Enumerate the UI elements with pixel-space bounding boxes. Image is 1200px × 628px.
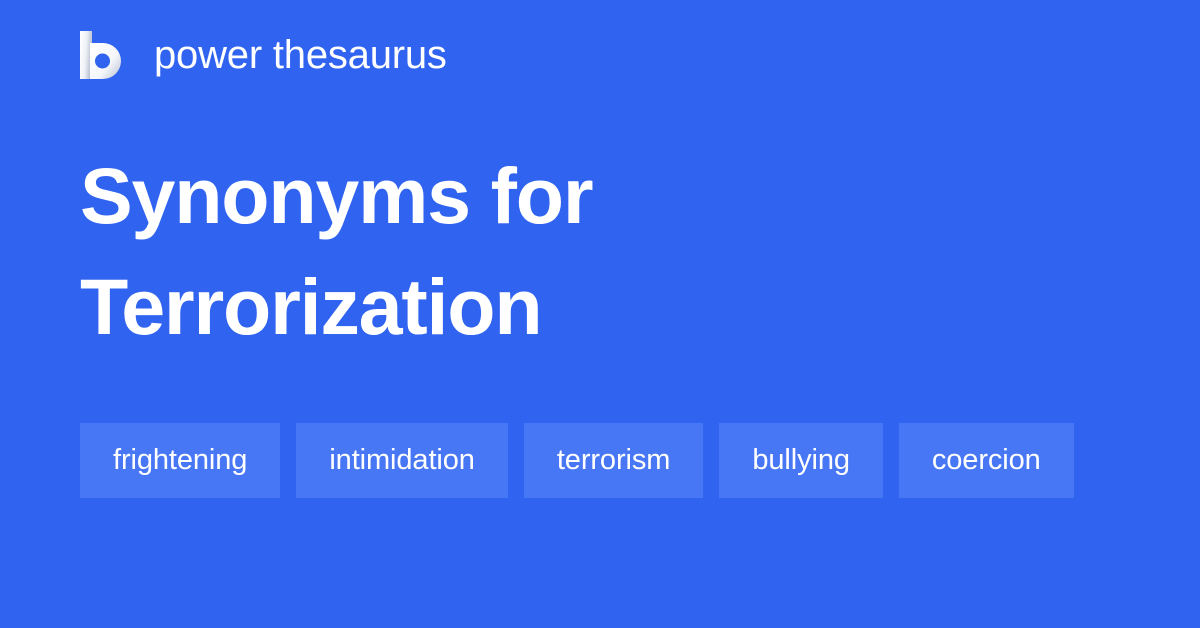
synonym-chip[interactable]: frightening (80, 423, 280, 498)
synonym-chip[interactable]: bullying (719, 423, 883, 498)
page-title-line-1: Synonyms for (80, 140, 1120, 251)
synonym-chip[interactable]: terrorism (524, 423, 704, 498)
share-card: power thesaurus Synonyms for Terrorizati… (0, 0, 1200, 628)
synonym-chip[interactable]: coercion (899, 423, 1074, 498)
brand-header[interactable]: power thesaurus (80, 30, 447, 80)
page-title-line-2: Terrorization (80, 251, 1120, 362)
synonym-chip[interactable]: intimidation (296, 423, 508, 498)
synonym-chip-list: frightening intimidation terrorism bully… (80, 423, 1140, 498)
page-title: Synonyms for Terrorization (80, 140, 1120, 362)
power-thesaurus-b-logo-icon (80, 30, 128, 80)
brand-name: power thesaurus (154, 35, 447, 75)
